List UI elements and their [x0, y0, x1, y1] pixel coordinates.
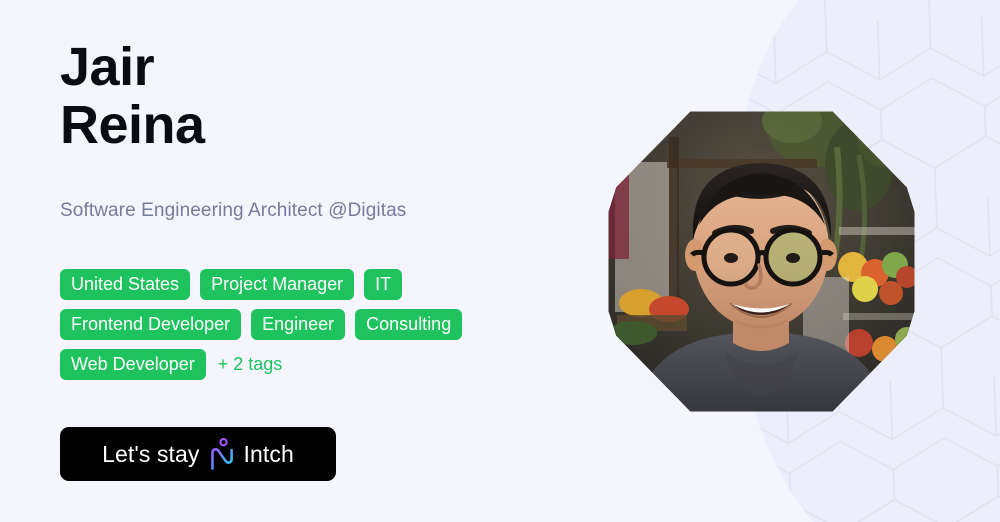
tag-list: United States Project Manager IT Fronten…	[60, 269, 580, 380]
tag-item[interactable]: IT	[364, 269, 402, 300]
cta-text-before: Let's stay	[102, 441, 199, 468]
lets-stay-intch-button[interactable]: Let's stay Intch	[60, 427, 336, 481]
page-title: Jair Reina	[60, 38, 205, 154]
tag-item[interactable]: Project Manager	[200, 269, 354, 300]
tag-item[interactable]: United States	[60, 269, 190, 300]
tag-item[interactable]: Consulting	[355, 309, 462, 340]
tag-item[interactable]: Web Developer	[60, 349, 206, 380]
profile-subtitle: Software Engineering Architect @Digitas	[60, 198, 406, 224]
cta-text-after: Intch	[244, 441, 294, 468]
tag-item[interactable]: Frontend Developer	[60, 309, 241, 340]
more-tags-link[interactable]: + 2 tags	[216, 349, 285, 380]
tag-item[interactable]: Engineer	[251, 309, 345, 340]
intch-n-logo-icon	[209, 438, 235, 472]
profile-content: Jair Reina Software Engineering Architec…	[60, 0, 600, 522]
avatar-hexagon-mask	[607, 107, 916, 416]
profile-card: Jair Reina Software Engineering Architec…	[0, 0, 1000, 522]
avatar-photo	[607, 107, 916, 416]
avatar	[607, 107, 916, 416]
